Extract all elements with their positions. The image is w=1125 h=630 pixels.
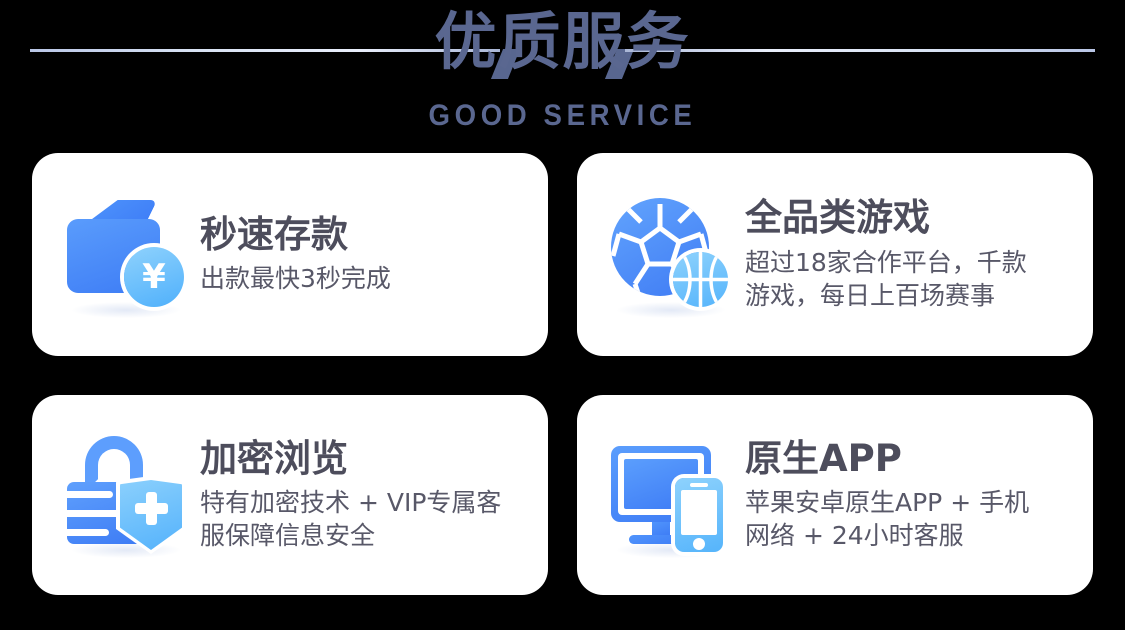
card-desc-line: 出款最快3秒完成 — [200, 262, 391, 295]
card-desc-line: 苹果安卓原生APP + 手机 — [745, 486, 1029, 519]
card-title: 秒速存款 — [200, 214, 391, 257]
wallet-yen-icon: ¥ — [62, 190, 192, 320]
monitor-phone-icon — [607, 430, 737, 560]
card-text-block: 加密浏览 特有加密技术 + VIP专属客 服保障信息安全 — [200, 438, 501, 553]
phone-screen — [681, 490, 717, 535]
phone-speaker — [690, 483, 708, 487]
card-desc-line: 服保障信息安全 — [200, 519, 501, 552]
lock-stripe — [67, 529, 109, 536]
page-subtitle: GOOD SERVICE — [45, 99, 1080, 133]
card-desc-line: 特有加密技术 + VIP专属客 — [200, 486, 501, 519]
card-desc-line: 超过18家合作平台，千款 — [745, 246, 1027, 279]
card-description: 超过18家合作平台，千款 游戏，每日上百场赛事 — [745, 246, 1027, 312]
card-description: 出款最快3秒完成 — [200, 262, 391, 295]
card-desc-line: 网络 + 24小时客服 — [745, 519, 1029, 552]
page-header: 优质服务 GOOD SERVICE — [0, 0, 1125, 145]
card-text-block: 秒速存款 出款最快3秒完成 — [200, 214, 391, 296]
card-text-block: 原生APP 苹果安卓原生APP + 手机 网络 + 24小时客服 — [745, 438, 1029, 553]
phone-home-button — [693, 538, 705, 550]
card-description: 特有加密技术 + VIP专属客 服保障信息安全 — [200, 486, 501, 552]
soccer-basketball-icon — [607, 190, 737, 320]
card-title: 原生APP — [745, 438, 1029, 481]
feature-card-encryption[interactable]: 加密浏览 特有加密技术 + VIP专属客 服保障信息安全 — [32, 395, 548, 595]
feature-card-native-app[interactable]: 原生APP 苹果安卓原生APP + 手机 网络 + 24小时客服 — [577, 395, 1093, 595]
page-title: 优质服务 — [0, 7, 1125, 76]
feature-card-grid: ¥ 秒速存款 出款最快3秒完成 — [32, 153, 1093, 595]
card-title: 加密浏览 — [200, 438, 501, 481]
lock-shield-icon — [62, 430, 192, 560]
card-text-block: 全品类游戏 超过18家合作平台，千款 游戏，每日上百场赛事 — [745, 197, 1027, 312]
basketball-icon — [673, 252, 728, 307]
feature-card-games[interactable]: 全品类游戏 超过18家合作平台，千款 游戏，每日上百场赛事 — [577, 153, 1093, 356]
yen-coin-icon: ¥ — [124, 247, 184, 307]
lock-stripe — [67, 491, 113, 498]
card-description: 苹果安卓原生APP + 手机 网络 + 24小时客服 — [745, 486, 1029, 552]
cross-icon-horizontal — [135, 503, 168, 514]
card-title: 全品类游戏 — [745, 197, 1027, 240]
card-desc-line: 游戏，每日上百场赛事 — [745, 279, 1027, 312]
lock-stripe — [67, 510, 123, 517]
feature-card-deposit[interactable]: ¥ 秒速存款 出款最快3秒完成 — [32, 153, 548, 356]
